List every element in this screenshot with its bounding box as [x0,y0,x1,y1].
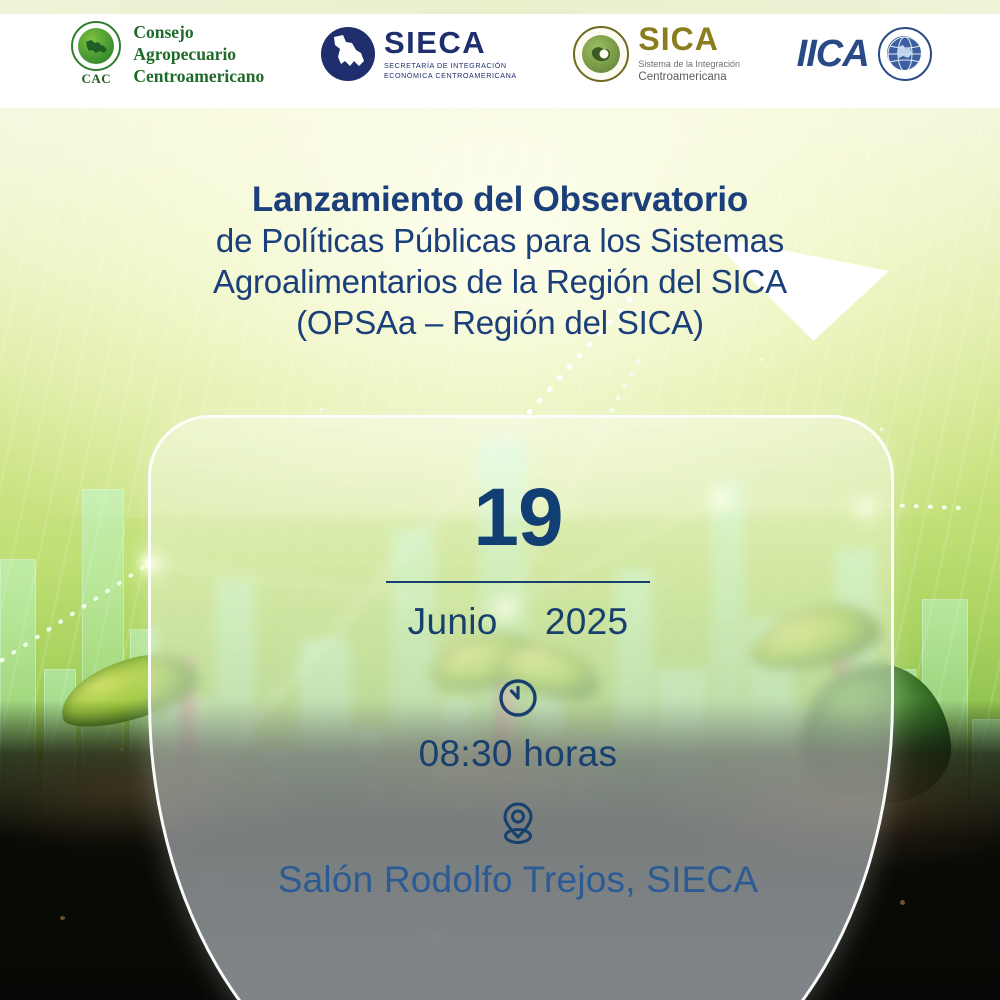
event-day: 19 [148,477,888,559]
sieca-sub1: SECRETARÍA DE INTEGRACIÓN [384,61,517,71]
sica-sub2: Centroamericana [638,70,740,86]
logo-bar: CAC Consejo Agropecuario Centroamericano… [0,0,1000,108]
clock-icon [497,677,539,719]
event-details: 19 Junio 2025 08:30 horas Salón Rodolfo … [148,415,888,901]
sieca-sub: SECRETARÍA DE INTEGRACIÓN ECONÓMICA CENT… [384,61,517,82]
sieca-sub2: ECONÓMICA CENTROAMERICANA [384,71,517,81]
event-time: 08:30 horas [148,733,888,775]
title-line-3: Agroalimentarios de la Región del SICA [0,262,1000,303]
cac-line3: Centroamericano [133,65,264,87]
event-poster: CAC Consejo Agropecuario Centroamericano… [0,0,1000,1000]
sica-seal-icon [573,26,629,82]
divider-rule [386,581,650,583]
map-pin-icon-row [148,801,888,847]
sieca-map-circle-icon [321,27,375,81]
sica-sub: Sistema de la Integración Centroamerican… [638,58,740,86]
logo-cac: CAC Consejo Agropecuario Centroamericano [68,21,264,87]
logo-sieca: SIECA SECRETARÍA DE INTEGRACIÓN ECONÓMIC… [321,27,517,82]
map-pin-icon [498,801,538,847]
cac-seal-icon: CAC [68,21,124,87]
cac-line1: Consejo [133,21,264,43]
event-location: Salón Rodolfo Trejos, SIECA [148,859,888,901]
poster-title: Lanzamiento del Observatorio de Política… [0,178,1000,344]
event-month: Junio [408,601,498,642]
title-line-4: (OPSAa – Región del SICA) [0,303,1000,344]
event-month-year: Junio 2025 [148,601,888,643]
logo-iica: IICA [797,27,932,81]
cac-wordmark: Consejo Agropecuario Centroamericano [133,21,264,87]
title-line-1: Lanzamiento del Observatorio [0,178,1000,221]
logo-sica: SICA Sistema de la Integración Centroame… [573,23,740,86]
sieca-abbr: SIECA [384,27,517,58]
sica-abbr: SICA [638,23,740,55]
event-year: 2025 [545,601,629,642]
sica-sub1: Sistema de la Integración [638,59,740,69]
title-line-2: de Políticas Públicas para los Sistemas [0,221,1000,262]
sieca-wordmark: SIECA SECRETARÍA DE INTEGRACIÓN ECONÓMIC… [384,27,517,82]
cac-abbr: CAC [68,71,124,87]
cac-line2: Agropecuario [133,43,264,65]
iica-abbr: IICA [797,35,869,73]
clock-icon-row [148,677,888,719]
iica-globe-icon [878,27,932,81]
sica-wordmark: SICA Sistema de la Integración Centroame… [638,23,740,86]
